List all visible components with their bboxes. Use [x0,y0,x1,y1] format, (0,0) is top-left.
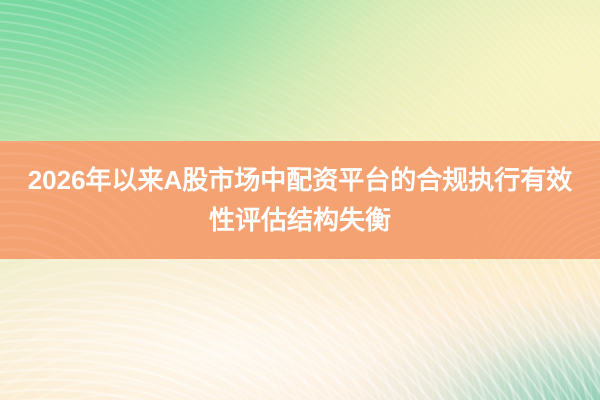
banner-title: 2026年以来A股市场中配资平台的合规执行有效性评估结构失衡 [20,160,580,240]
banner-image: 2026年以来A股市场中配资平台的合规执行有效性评估结构失衡 [0,0,600,400]
title-band: 2026年以来A股市场中配资平台的合规执行有效性评估结构失衡 [0,141,600,259]
